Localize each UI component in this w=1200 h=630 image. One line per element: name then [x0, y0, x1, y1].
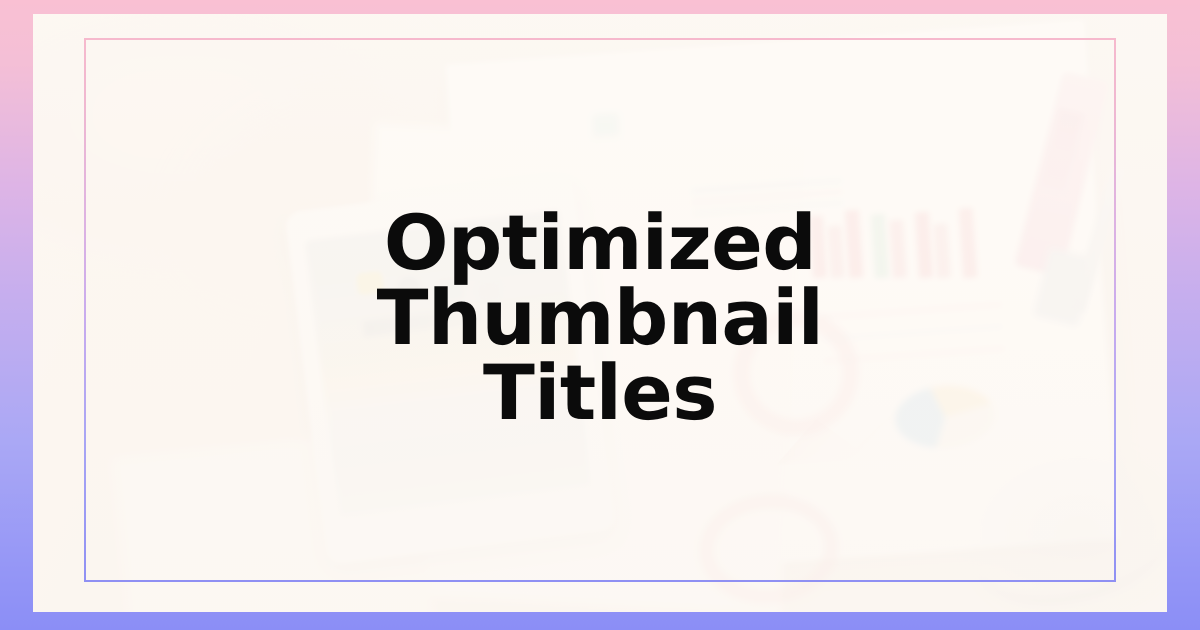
- page-title: Optimized Thumbnail Titles: [0, 205, 1200, 430]
- title-line-3: Titles: [110, 355, 1090, 430]
- title-line-1: Optimized: [110, 205, 1090, 280]
- thumbnail-card: Optimized Thumbnail Titles: [0, 0, 1200, 630]
- title-line-2: Thumbnail: [110, 280, 1090, 355]
